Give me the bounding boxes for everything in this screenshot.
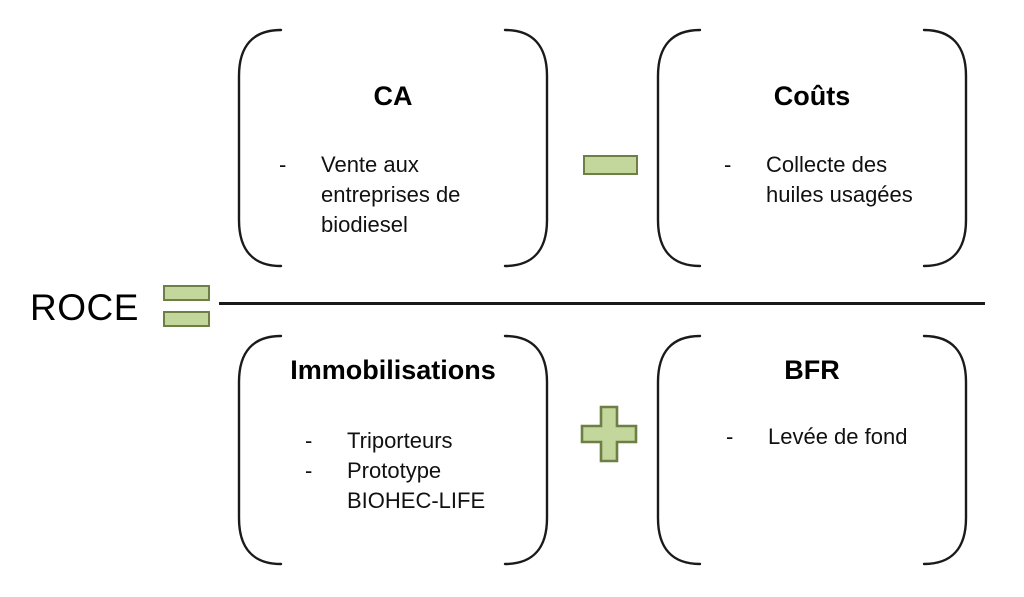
box-title-ca: CA: [261, 80, 525, 112]
equals-sign-icon: [163, 285, 210, 329]
numerator-right-content: Coûts - Collecte des huiles usagées: [680, 28, 944, 268]
bullet-dash-icon: -: [724, 150, 766, 180]
bullet-list-bfr: - Levée de fond: [680, 422, 944, 452]
numerator-left-group: CA - Vente aux entreprises de biodiesel: [237, 28, 549, 268]
bullet-dash-icon: -: [279, 150, 321, 180]
denominator-right-content: BFR - Levée de fond: [680, 334, 944, 566]
list-item: - Triporteurs: [305, 426, 521, 456]
list-item: - Vente aux entreprises de biodiesel: [279, 150, 511, 240]
roce-label: ROCE: [30, 285, 140, 331]
equals-bar-bottom: [163, 311, 210, 327]
minus-sign-icon: [583, 155, 638, 175]
numerator-right-group: Coûts - Collecte des huiles usagées: [656, 28, 968, 268]
plus-sign-icon: [580, 405, 638, 463]
list-item-label: Collecte des huiles usagées: [766, 150, 934, 210]
bullet-list-immobilisations: - Triporteurs - Prototype BIOHEC-LIFE: [261, 426, 525, 516]
list-item-label: Levée de fond: [768, 422, 940, 452]
list-item-label: Prototype BIOHEC-LIFE: [347, 456, 521, 516]
list-item-label: Vente aux entreprises de biodiesel: [321, 150, 511, 240]
bullet-dash-icon: -: [305, 456, 347, 486]
box-title-immobilisations: Immobilisations: [261, 354, 525, 386]
bullet-dash-icon: -: [726, 422, 768, 452]
bullet-dash-icon: -: [305, 426, 347, 456]
numerator-left-content: CA - Vente aux entreprises de biodiesel: [261, 28, 525, 268]
bullet-list-couts: - Collecte des huiles usagées: [680, 150, 944, 210]
box-title-couts: Coûts: [680, 80, 944, 112]
list-item: - Collecte des huiles usagées: [724, 150, 934, 210]
equals-bar-top: [163, 285, 210, 301]
list-item: - Prototype BIOHEC-LIFE: [305, 456, 521, 516]
denominator-left-group: Immobilisations - Triporteurs - Prototyp…: [237, 334, 549, 566]
list-item-label: Triporteurs: [347, 426, 521, 456]
fraction-divider: [219, 302, 985, 305]
list-item: - Levée de fond: [726, 422, 940, 452]
denominator-left-content: Immobilisations - Triporteurs - Prototyp…: [261, 334, 525, 566]
roce-formula-diagram: ROCE CA - Vente aux entreprises de biodi…: [0, 0, 1024, 597]
denominator-right-group: BFR - Levée de fond: [656, 334, 968, 566]
box-title-bfr: BFR: [680, 354, 944, 386]
bullet-list-ca: - Vente aux entreprises de biodiesel: [261, 150, 525, 240]
